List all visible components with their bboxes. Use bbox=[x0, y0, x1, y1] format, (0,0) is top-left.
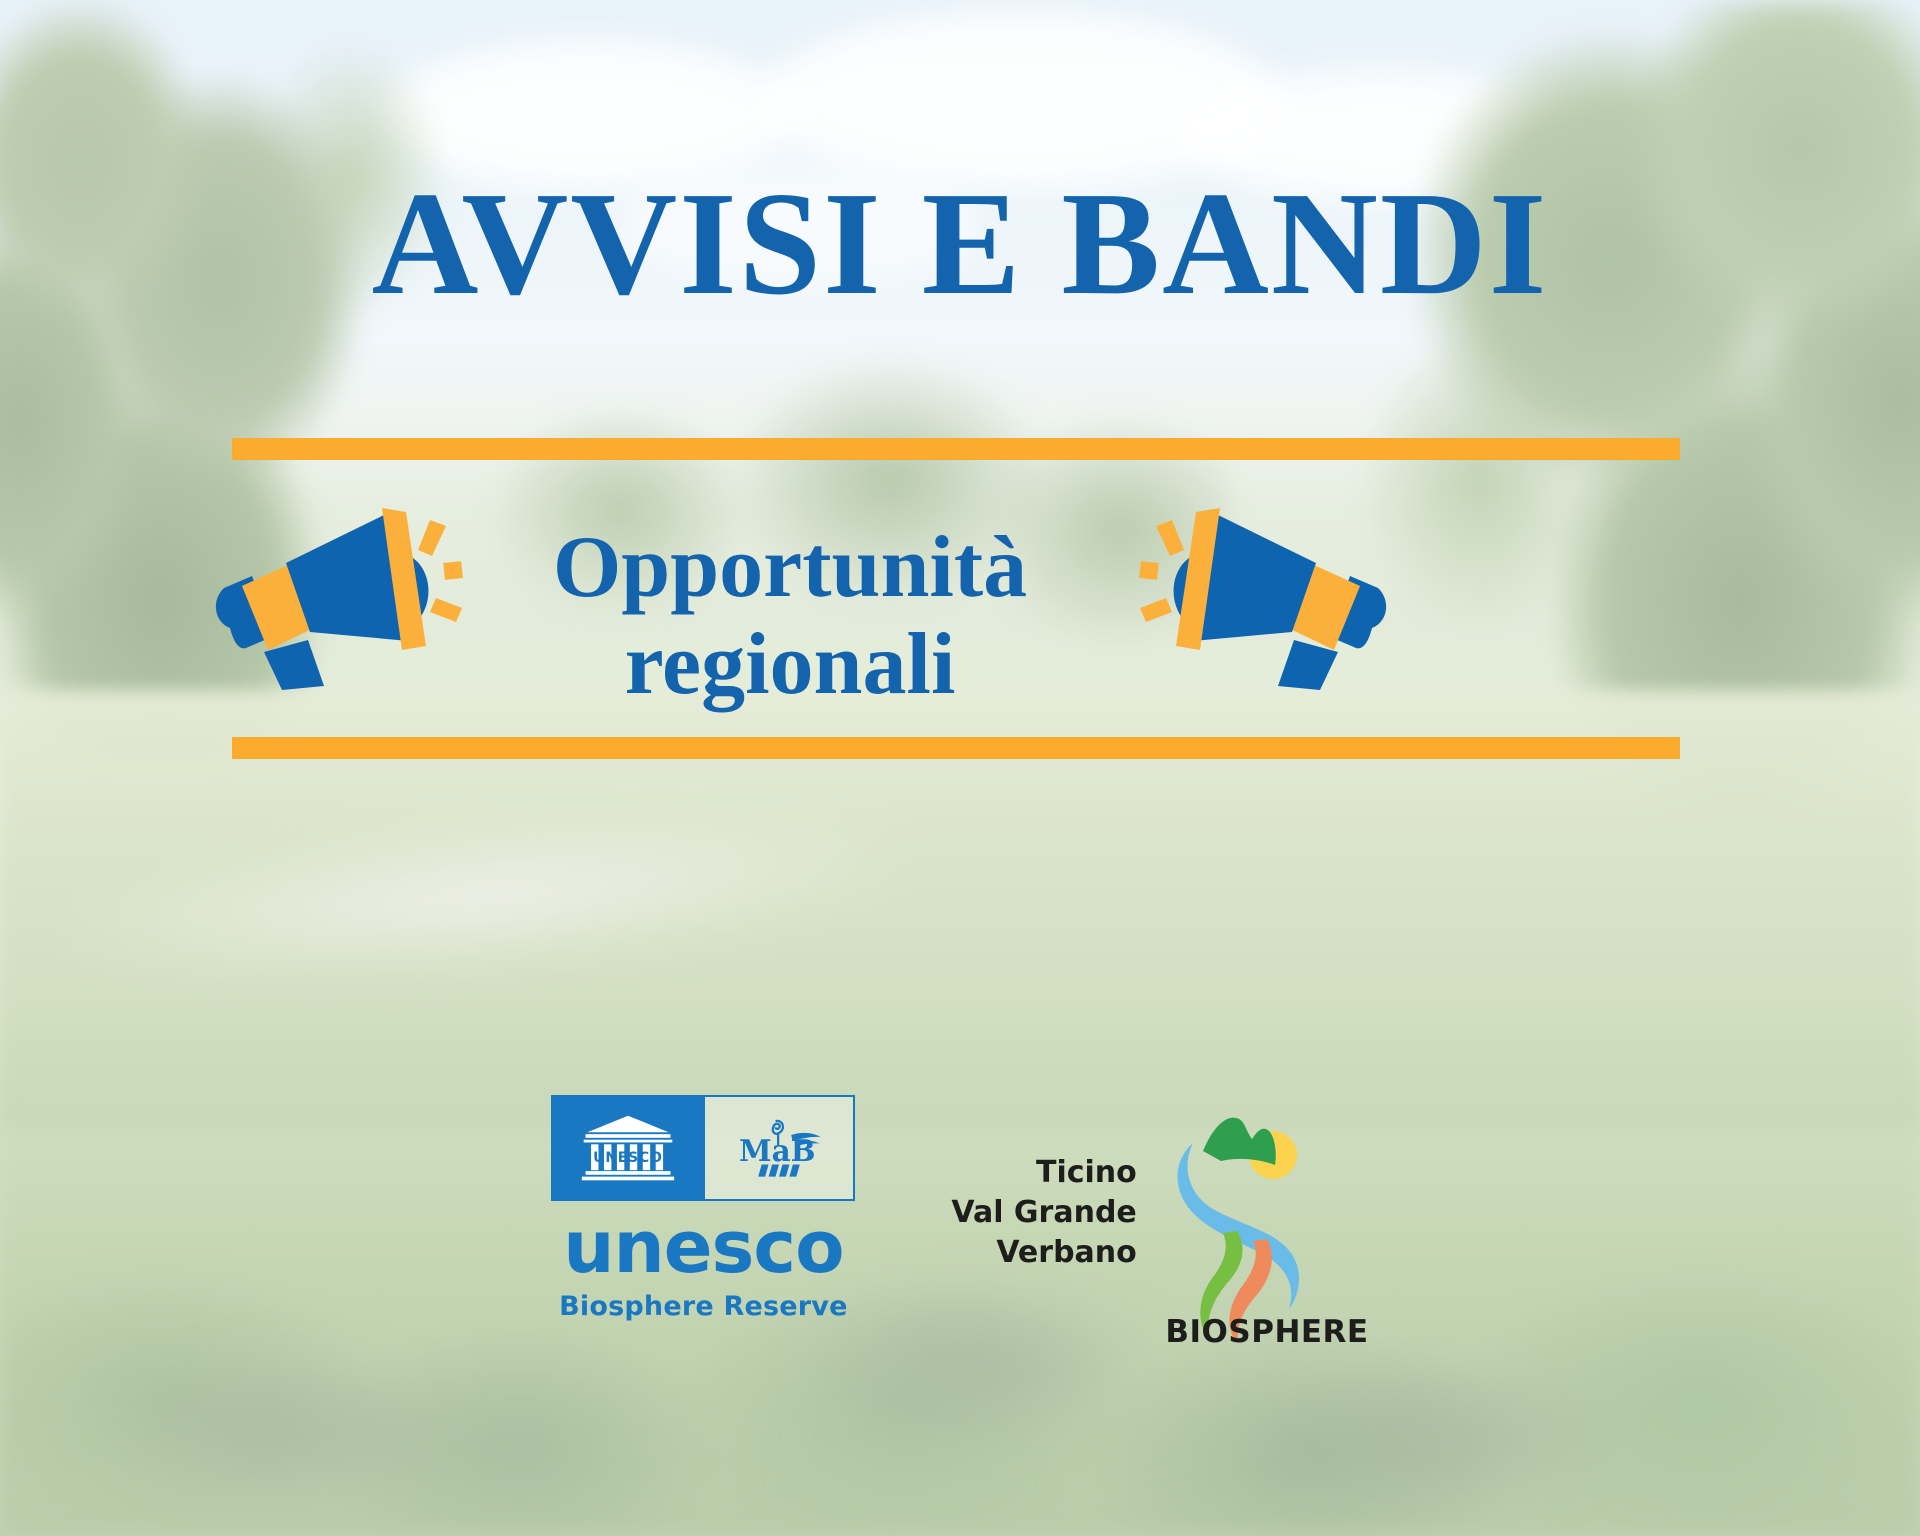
unesco-temple-icon: UNESCO bbox=[553, 1097, 703, 1199]
poster-canvas: AVVISI E BANDI bbox=[0, 0, 1920, 1536]
svg-text:MaB: MaB bbox=[739, 1133, 816, 1168]
unesco-wordmark: unesco bbox=[563, 1211, 843, 1283]
megaphone-icon-right bbox=[1130, 500, 1390, 690]
poster-subtitle: Opportunità regionali bbox=[430, 520, 1150, 714]
svg-text:UNESCO: UNESCO bbox=[594, 1150, 664, 1166]
ticino-biosphere-mark-icon bbox=[1151, 1113, 1321, 1348]
ticino-logo-row: Ticino Val Grande Verbano bbox=[951, 1113, 1320, 1348]
ticino-val-grande-verbano-logo: Ticino Val Grande Verbano bbox=[951, 1095, 1368, 1350]
ticino-name-block: Ticino Val Grande Verbano bbox=[951, 1113, 1136, 1274]
unesco-logo: UNESCO bbox=[551, 1095, 855, 1322]
unesco-emblem: UNESCO bbox=[551, 1095, 855, 1201]
unesco-tagline: Biosphere Reserve bbox=[559, 1291, 847, 1322]
logo-row: UNESCO bbox=[0, 1095, 1920, 1350]
horizontal-rule-bottom bbox=[232, 737, 1680, 759]
ticino-name-line-1: Ticino bbox=[1036, 1153, 1137, 1193]
poster-content: AVVISI E BANDI bbox=[0, 0, 1920, 1536]
page-title: AVVISI E BANDI bbox=[0, 170, 1920, 318]
subtitle-line-1: Opportunità bbox=[430, 520, 1150, 617]
ticino-biosphere-label: BIOSPHERE bbox=[1165, 1314, 1368, 1350]
horizontal-rule-top bbox=[232, 438, 1680, 460]
subtitle-line-2: regionali bbox=[430, 617, 1150, 714]
mab-icon: MaB bbox=[703, 1097, 853, 1199]
ticino-name-line-3: Verbano bbox=[996, 1233, 1136, 1273]
ticino-name-line-2: Val Grande bbox=[951, 1193, 1136, 1233]
